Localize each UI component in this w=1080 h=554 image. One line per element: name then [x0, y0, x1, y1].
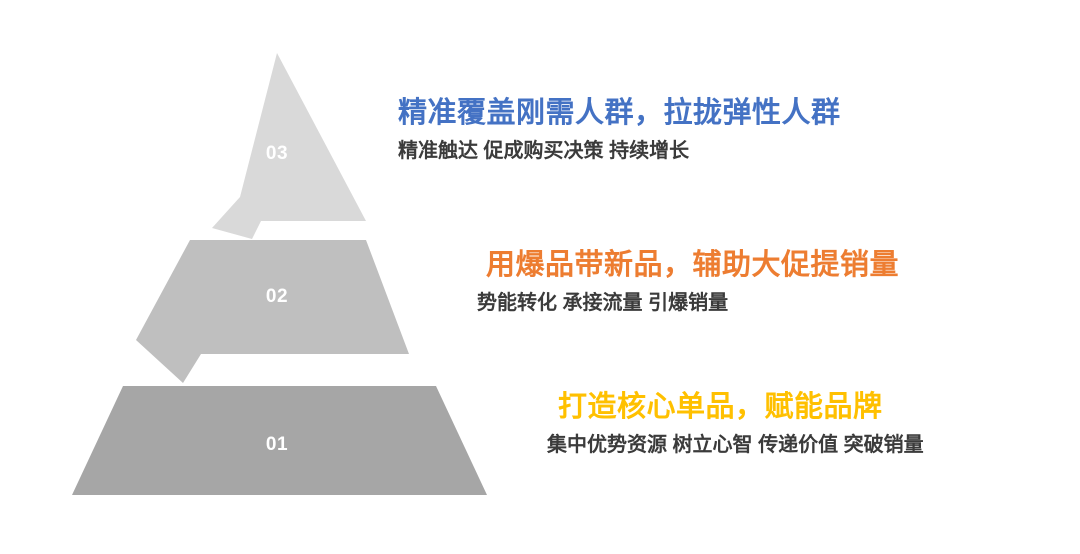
content-block-02: 用爆品带新品，辅助大促提销量 势能转化 承接流量 引爆销量	[486, 249, 899, 315]
pyramid-level-03-number: 03	[266, 143, 288, 164]
content-block-03: 精准覆盖刚需人群，拉拢弹性人群 精准触达 促成购买决策 持续增长	[398, 97, 841, 163]
content-block-01-title: 打造核心单品，赋能品牌	[558, 391, 924, 424]
pyramid-level-01-number: 01	[266, 434, 288, 455]
content-block-01: 打造核心单品，赋能品牌 集中优势资源 树立心智 传递价值 突破销量	[558, 391, 924, 457]
content-block-02-subtitle: 势能转化 承接流量 引爆销量	[477, 291, 899, 315]
pyramid-level-02[interactable]: 02	[136, 240, 409, 383]
pyramid-diagram: 03 02 01	[0, 0, 540, 554]
content-block-03-subtitle: 精准触达 促成购买决策 持续增长	[398, 139, 841, 163]
slide-canvas: 03 02 01 精准覆盖刚需人群，拉拢弹性人群 精准触达 促成购买决策 持续增…	[0, 0, 1080, 554]
content-block-02-title: 用爆品带新品，辅助大促提销量	[486, 249, 899, 282]
pyramid-level-02-number: 02	[266, 286, 288, 307]
content-block-01-subtitle: 集中优势资源 树立心智 传递价值 突破销量	[547, 433, 924, 457]
pyramid-level-03-shape	[212, 53, 366, 239]
pyramid-level-03[interactable]: 03	[212, 53, 366, 239]
content-block-03-title: 精准覆盖刚需人群，拉拢弹性人群	[398, 97, 841, 130]
pyramid-level-01[interactable]: 01	[72, 386, 487, 495]
pyramid-level-02-shape	[136, 240, 409, 383]
